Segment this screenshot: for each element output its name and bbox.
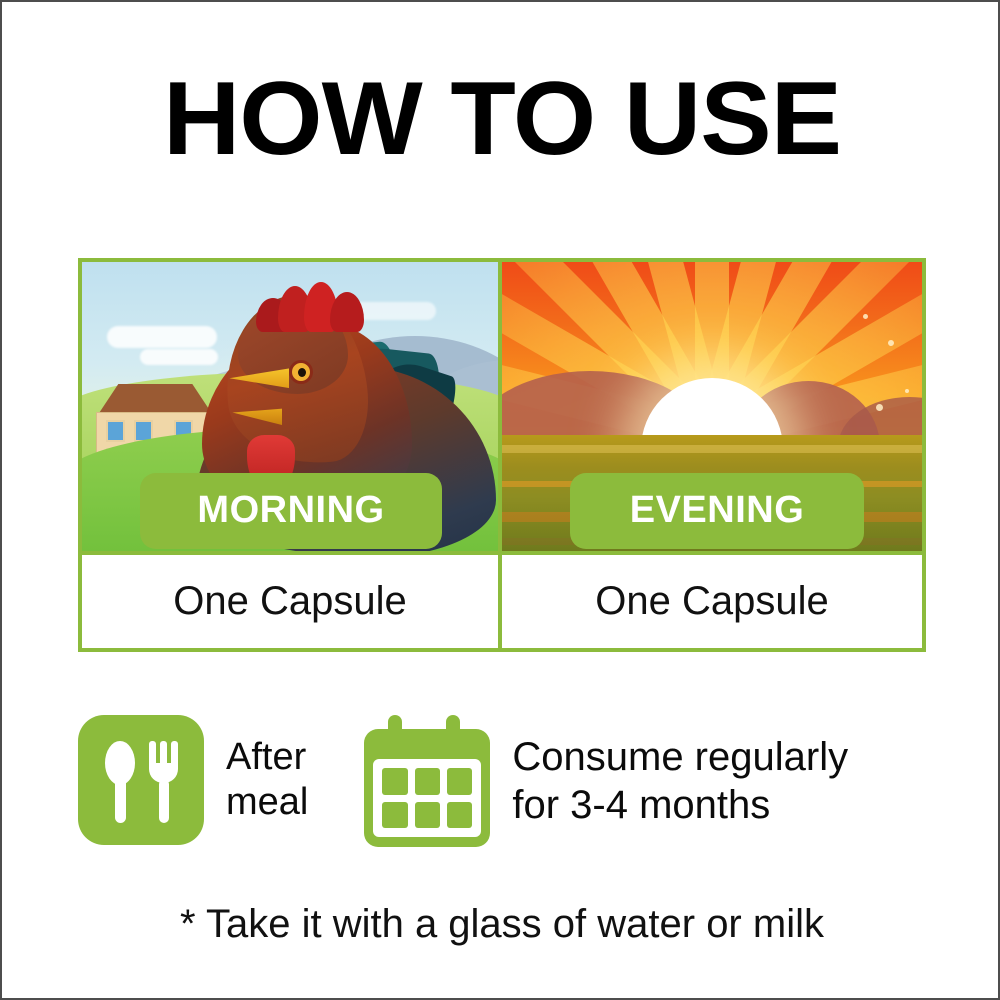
house-window xyxy=(106,420,125,442)
schedule-cell-morning: MORNING xyxy=(82,262,502,551)
calendar-grid xyxy=(373,759,481,837)
fork-icon xyxy=(148,741,180,821)
spoon-icon xyxy=(105,741,135,821)
light-streak xyxy=(502,445,922,453)
light-speck xyxy=(876,404,883,411)
info-item-after-meal: After meal xyxy=(78,715,308,845)
schedule-table: MORNING xyxy=(78,258,926,652)
spoon-fork-icon xyxy=(78,715,204,845)
info-label-after-meal: After meal xyxy=(226,735,308,825)
schedule-cell-evening: EVENING xyxy=(502,262,922,551)
dose-label-evening: One Capsule xyxy=(595,579,828,624)
dose-cell-evening: One Capsule xyxy=(502,555,922,648)
schedule-image-row: MORNING xyxy=(82,262,922,555)
info-item-duration: Consume regularly for 3-4 months xyxy=(364,715,848,847)
info-label-duration: Consume regularly for 3-4 months xyxy=(512,733,848,829)
how-to-use-infographic: HOW TO USE xyxy=(0,0,1000,1000)
rooster-comb xyxy=(256,282,374,332)
schedule-dose-row: One Capsule One Capsule xyxy=(82,555,922,648)
footnote-text: * Take it with a glass of water or milk xyxy=(2,902,1000,947)
time-badge-morning: MORNING xyxy=(140,473,442,549)
dose-cell-morning: One Capsule xyxy=(82,555,502,648)
calendar-icon xyxy=(364,715,490,847)
usage-info-row: After meal Consume regularly for 3-4 mon… xyxy=(78,715,938,855)
time-badge-evening: EVENING xyxy=(570,473,864,549)
page-title: HOW TO USE xyxy=(0,64,1000,174)
dose-label-morning: One Capsule xyxy=(173,579,406,624)
